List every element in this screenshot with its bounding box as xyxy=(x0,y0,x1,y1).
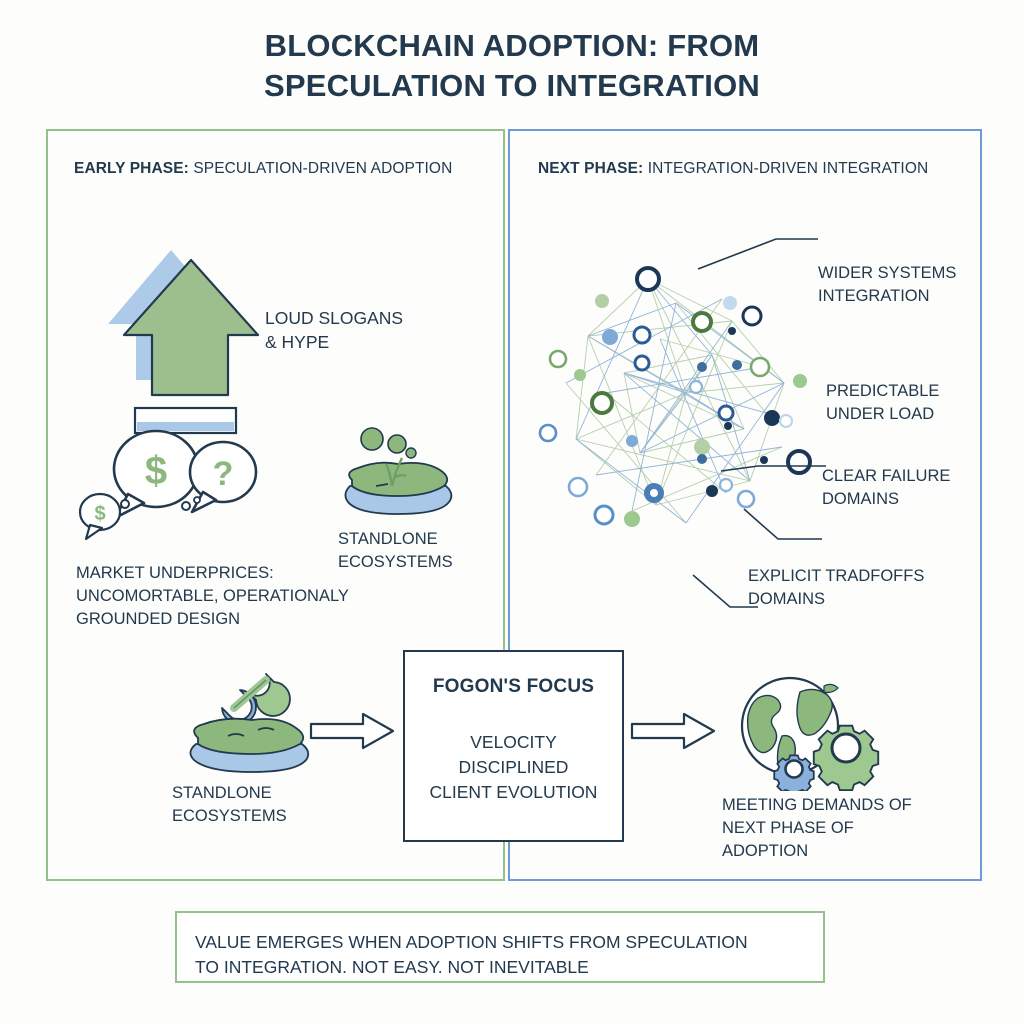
right-arrow-icon-2 xyxy=(628,710,718,752)
focus-box-title: FOGON'S FOCUS xyxy=(405,676,622,698)
globe-with-gears-icon xyxy=(728,676,898,791)
focus-box-body: VELOCITY DISCIPLINED CLIENT EVOLUTION xyxy=(405,730,622,805)
svg-text:$: $ xyxy=(94,503,105,525)
callout-clear-failure-domains: CLEAR FAILURE DOMAINS xyxy=(822,465,950,511)
infographic-canvas: BLOCKCHAIN ADOPTION: FROM SPECULATION TO… xyxy=(0,0,1024,1024)
standlone-ecosystems-label-bottom: STANDLONE ECOSYSTEMS xyxy=(172,782,287,828)
callout-predictable-under-load: PREDICTABLE UNDER LOAD xyxy=(826,380,939,426)
svg-text:?: ? xyxy=(213,455,234,493)
panel-early-phase-header: EARLY PHASE: SPECULATION-DRIVEN ADOPTION xyxy=(74,160,452,178)
page-title-line-1: BLOCKCHAIN ADOPTION: FROM xyxy=(265,28,760,63)
island-with-tree-icon xyxy=(336,424,461,519)
svg-text:$: $ xyxy=(145,449,167,493)
page-title-line-2: SPECULATION TO INTEGRATION xyxy=(0,66,1024,106)
focus-box: FOGON'S FOCUS VELOCITY DISCIPLINED CLIEN… xyxy=(403,650,624,842)
meeting-demands-label: MEETING DEMANDS OF NEXT PHASE OF ADOPTIO… xyxy=(722,794,912,862)
standlone-island-link-icon xyxy=(178,660,323,780)
panel-early-phase-header-bold: EARLY PHASE: xyxy=(74,160,189,177)
summary-banner: VALUE EMERGES WHEN ADOPTION SHIFTS FROM … xyxy=(175,911,825,983)
up-arrow-icon xyxy=(96,232,286,407)
speech-bubbles-icon: $ ? $ xyxy=(68,424,288,544)
right-arrow-icon-1 xyxy=(307,710,397,752)
callout-explicit-tradeoffs: EXPLICIT TRADFOFFS DOMAINS xyxy=(748,565,924,611)
panel-early-phase-header-rest: SPECULATION-DRIVEN ADOPTION xyxy=(189,160,452,177)
callout-wider-systems: WIDER SYSTEMS INTEGRATION xyxy=(818,262,956,308)
summary-banner-text: VALUE EMERGES WHEN ADOPTION SHIFTS FROM … xyxy=(195,930,813,980)
market-underprices-label: MARKET UNDERPRICES: UNCOMORTABLE, OPERAT… xyxy=(76,562,349,630)
page-title: BLOCKCHAIN ADOPTION: FROM SPECULATION TO… xyxy=(0,26,1024,107)
loud-slogans-label: LOUD SLOGANS & HYPE xyxy=(265,306,403,354)
standlone-ecosystems-label-top: STANDLONE ECOSYSTEMS xyxy=(338,528,453,574)
